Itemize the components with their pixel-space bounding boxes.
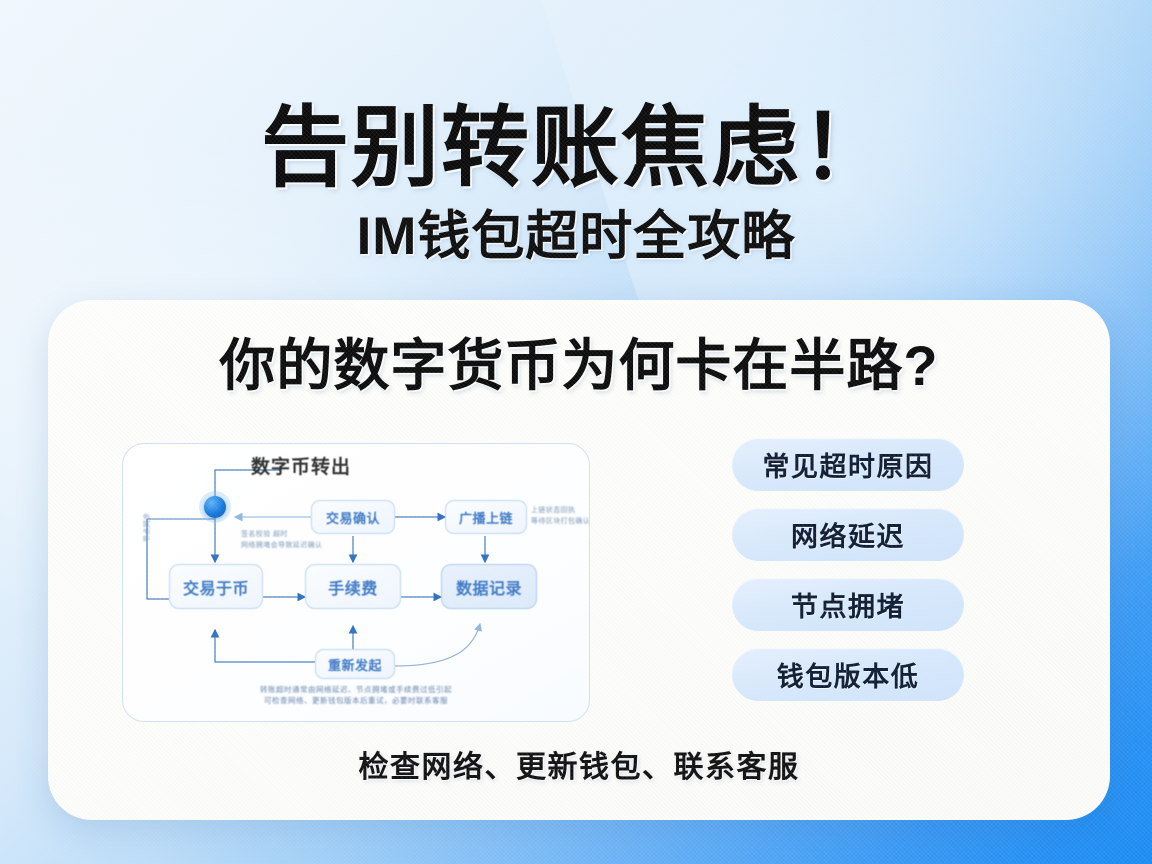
content-card: 你的数字货币为何卡在半路? <box>48 300 1110 820</box>
diagram-node-result: 数据记录 <box>441 564 537 609</box>
diagram-node-transfer: 交易于币 <box>169 564 263 609</box>
reason-pill-list: 常见超时原因 网络延迟 节点拥堵 钱包版本低 <box>648 438 1048 718</box>
poster-canvas: 告别转账焦虑！ IM钱包超时全攻略 你的数字货币为何卡在半路? <box>0 0 1152 864</box>
reason-pill-common-timeout-causes[interactable]: 常见超时原因 <box>732 438 964 491</box>
diagram-annotation-3: 节点同步 <box>143 512 153 542</box>
diagram-node-fee: 手续费 <box>305 564 401 609</box>
diagram-hub-node <box>204 496 226 518</box>
diagram-caption-line-1: 转账超时通常由网络延迟、节点拥堵或手续费过低引起 <box>123 684 589 695</box>
diagram-title: 数字币转出 <box>251 452 351 479</box>
diagram-node-broadcast: 广播上链 <box>445 500 527 534</box>
reason-pill-node-congestion[interactable]: 节点拥堵 <box>732 578 964 631</box>
diagram-annotation-2: 网络拥堵会导致延迟确认 <box>241 541 322 551</box>
diagram-node-confirm: 交易确认 <box>311 500 395 534</box>
reason-pill-network-latency[interactable]: 网络延迟 <box>732 508 964 561</box>
card-footer-advice: 检查网络、更新钱包、联系客服 <box>48 742 1110 786</box>
poster-headline: 告别转账焦虑！ <box>0 104 1152 192</box>
headline-block: 告别转账焦虑！ IM钱包超时全攻略 <box>0 104 1152 263</box>
diagram-node-retry: 重新发起 <box>315 649 395 679</box>
flow-diagram-panel: 数字币转出 交易确认 广播上链 交易于币 手续费 数据记录 重新发起 签名校验 … <box>122 443 590 722</box>
diagram-annotation-5: 等待区块打包确认 <box>531 517 590 527</box>
diagram-caption-line-2: 可检查网络、更新钱包版本后重试，必要时联系客服 <box>123 695 589 706</box>
diagram-annotation-4: 上链状态回执 <box>531 506 575 516</box>
reason-pill-old-wallet-version[interactable]: 钱包版本低 <box>732 648 964 701</box>
card-title: 你的数字货币为何卡在半路? <box>48 338 1110 394</box>
diagram-annotation-1: 签名校验 超时 <box>241 530 288 540</box>
poster-subheadline: IM钱包超时全攻略 <box>0 210 1152 263</box>
